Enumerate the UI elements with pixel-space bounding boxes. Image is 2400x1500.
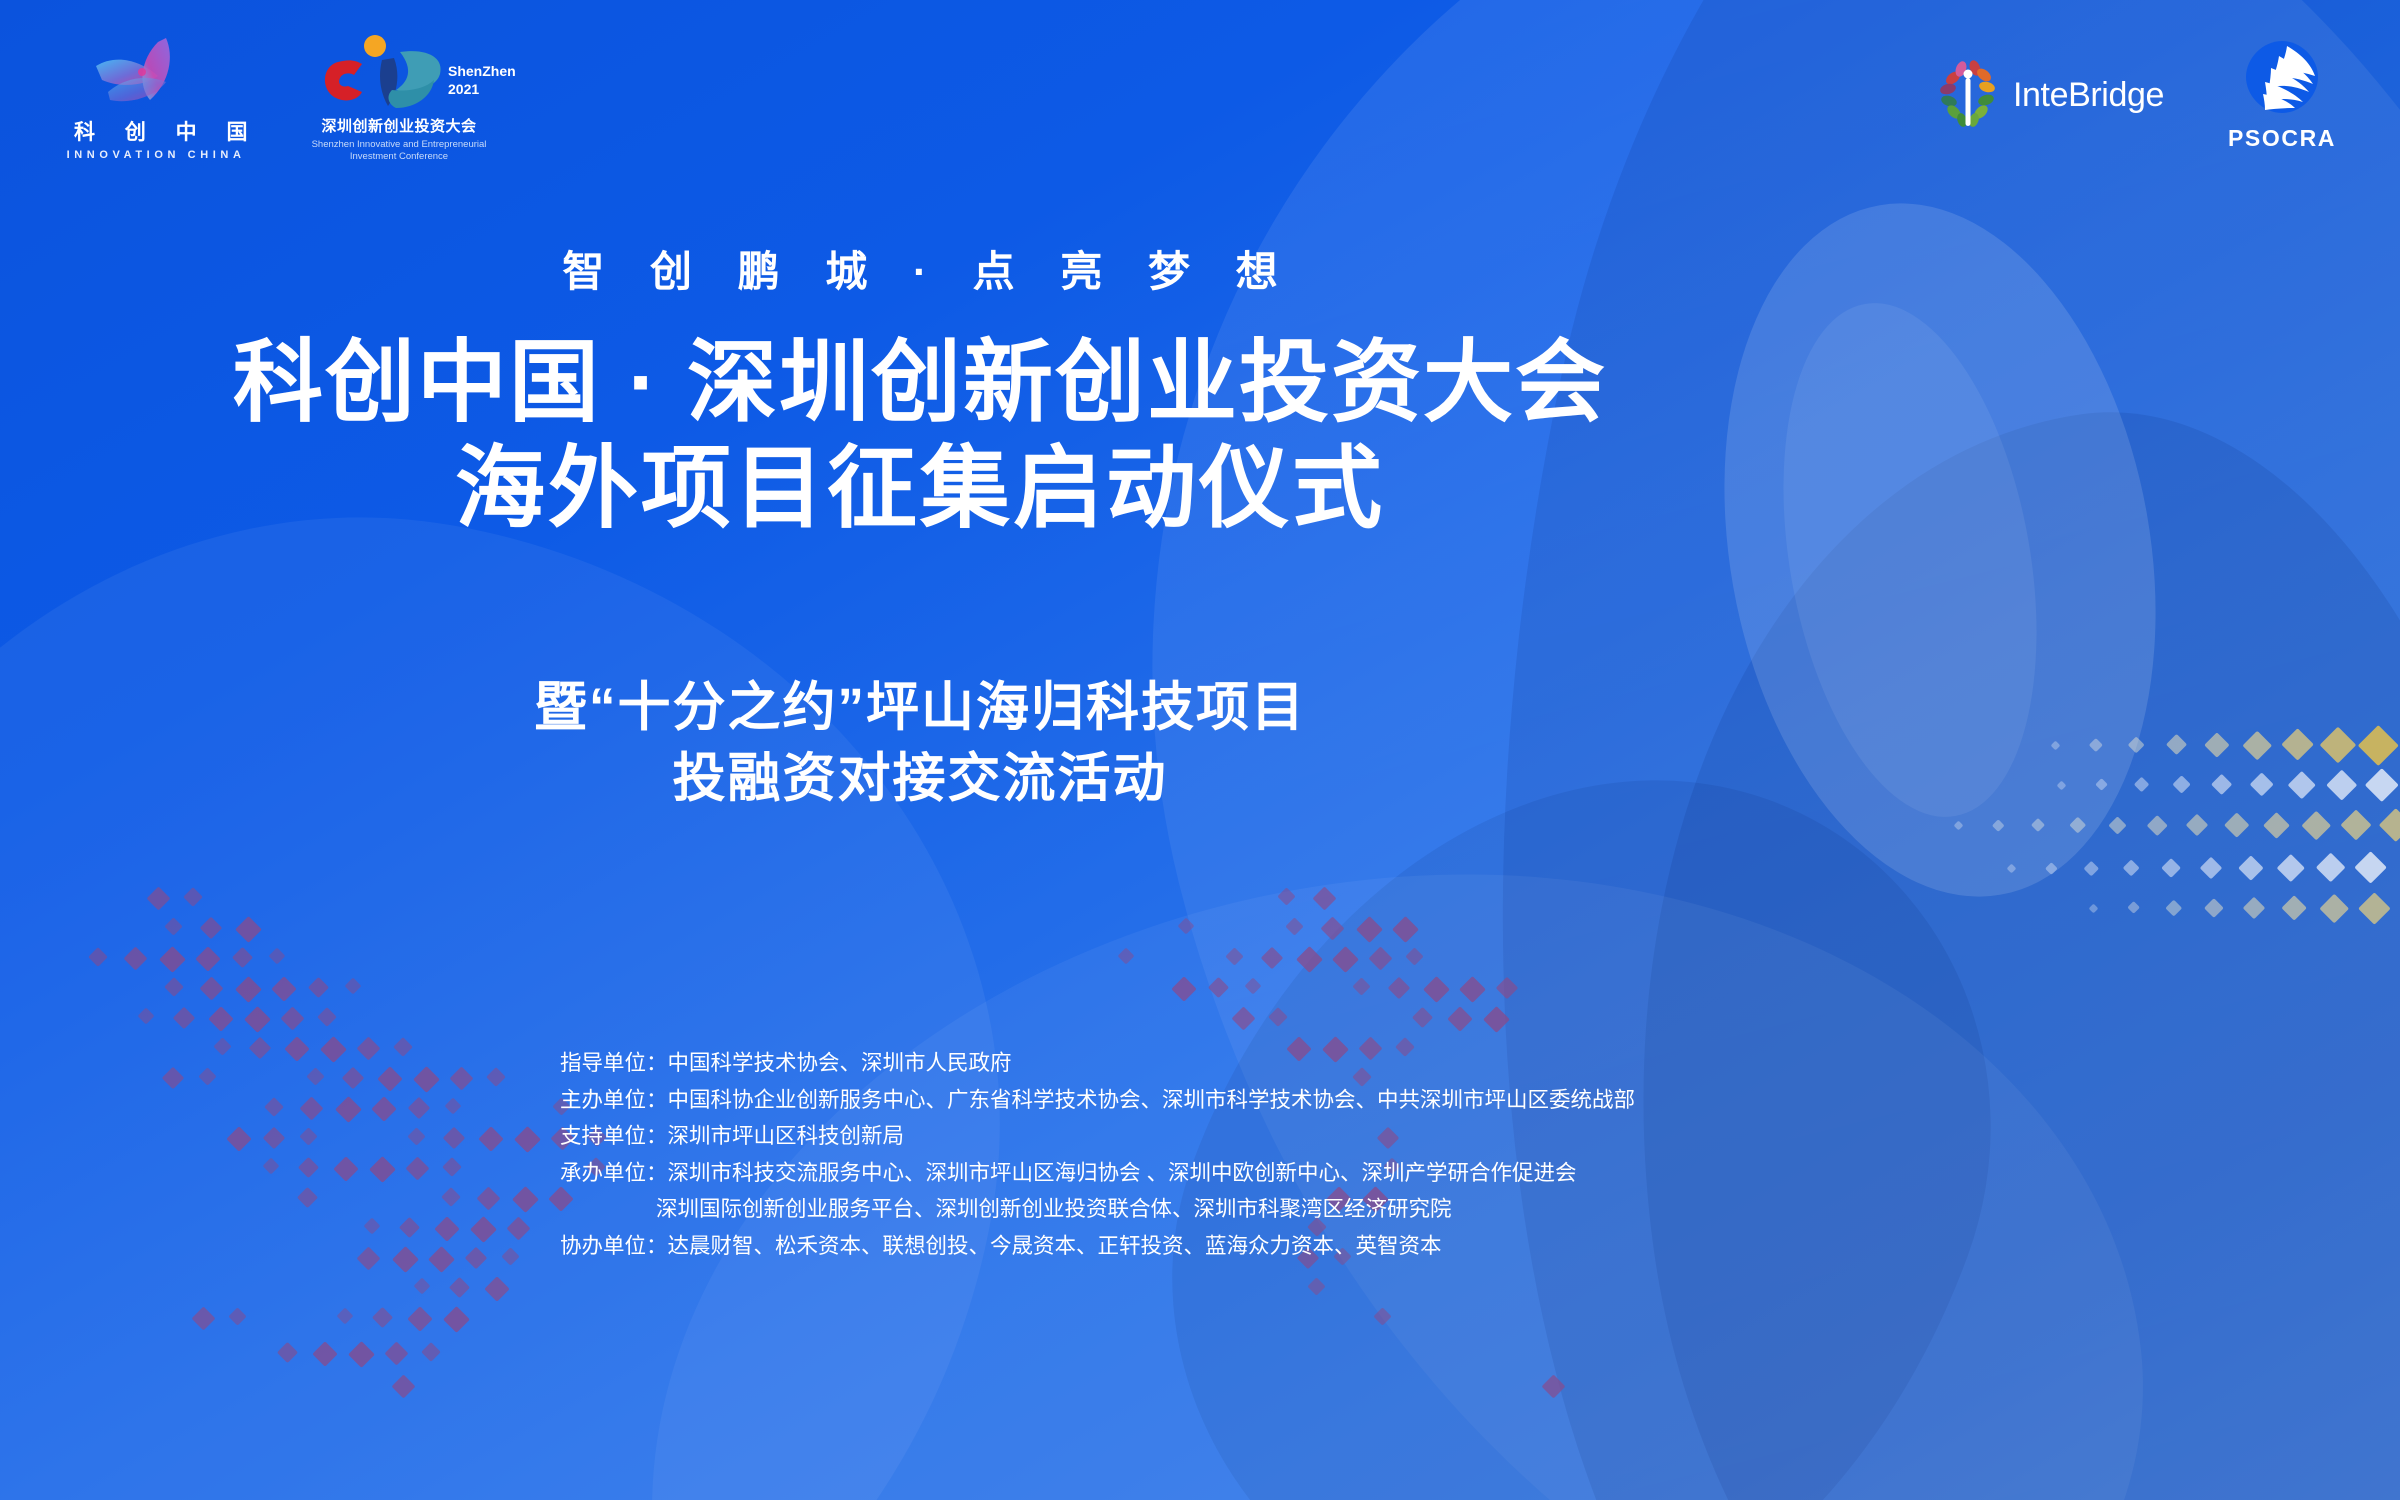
credit-line: 承办单位：深圳市科技交流服务中心、深圳市坪山区海归协会 、深圳中欧创新中心、深圳…: [560, 1155, 2120, 1192]
shenzhen-badge-city: ShenZhen: [448, 63, 516, 79]
logo-group-left: 科 创 中 国 INNOVATION CHINA ShenZhen 2021 深: [62, 30, 524, 163]
intebridge-tree-icon: [1935, 56, 2001, 135]
logo-shenzhen-en-line2: Investment Conference: [274, 151, 524, 163]
credit-line: 协办单位：达晨财智、松禾资本、联想创投、今晟资本、正轩投资、蓝海众力资本、英智资…: [560, 1228, 2120, 1265]
psocra-shield-icon: [2243, 103, 2321, 120]
subtitle-line-2: 投融资对接交流活动: [0, 743, 1840, 814]
page-title: 科创中国 · 深圳创新创业投资大会 海外项目征集启动仪式: [0, 330, 1840, 542]
shenzhen-badge-year: 2021: [448, 81, 479, 97]
logo-intebridge-name: InteBridge: [2013, 76, 2164, 115]
logo-psocra-name: PSOCRA: [2228, 125, 2336, 152]
background-sweep-shape: [0, 421, 1093, 1500]
credit-line: 支持单位：深圳市坪山区科技创新局: [560, 1118, 2120, 1155]
logo-innovation-china-cn: 科 创 中 国: [62, 116, 222, 146]
logo-innovation-china-en: INNOVATION CHINA: [62, 149, 222, 161]
organizer-credits: 指导单位：中国科学技术协会、深圳市人民政府 主办单位：中国科协企业创新服务中心、…: [560, 1045, 2120, 1264]
credit-line: 指导单位：中国科学技术协会、深圳市人民政府: [560, 1045, 2120, 1082]
credit-line: 深圳国际创新创业服务平台、深圳创新创业投资联合体、深圳市科聚湾区经济研究院: [560, 1191, 2120, 1228]
logo-header: 科 创 中 国 INNOVATION CHINA ShenZhen 2021 深: [0, 0, 2400, 180]
logo-psocra: PSOCRA: [2228, 38, 2336, 152]
subtitle-line-1: 暨“十分之约”坪山海归科技项目: [0, 672, 1840, 743]
credit-line: 主办单位：中国科协企业创新服务中心、广东省科学技术协会、深圳市科学技术协会、中共…: [560, 1082, 2120, 1119]
title-line-1: 科创中国 · 深圳创新创业投资大会: [0, 330, 1840, 436]
logo-intebridge: InteBridge: [1935, 56, 2164, 135]
event-tagline: 智 创 鹏 城 · 点 亮 梦 想: [0, 238, 1840, 299]
bird-mark-icon: [62, 30, 222, 112]
title-line-2: 海外项目征集启动仪式: [0, 436, 1840, 542]
poster-canvas: 科 创 中 国 INNOVATION CHINA ShenZhen 2021 深: [0, 0, 2400, 1500]
logo-shenzhen-en-line1: Shenzhen Innovative and Entrepreneurial: [274, 139, 524, 151]
logo-innovation-china: 科 创 中 国 INNOVATION CHINA: [62, 30, 222, 161]
shenzhen-figure-icon: ShenZhen 2021: [274, 30, 524, 112]
logo-shenzhen-conference: ShenZhen 2021 深圳创新创业投资大会 Shenzhen Innova…: [274, 30, 524, 163]
logo-shenzhen-cn: 深圳创新创业投资大会: [274, 115, 524, 136]
logo-group-right: InteBridge PSOCRA: [1935, 38, 2336, 152]
event-subtitle: 暨“十分之约”坪山海归科技项目 投融资对接交流活动: [0, 672, 1840, 814]
